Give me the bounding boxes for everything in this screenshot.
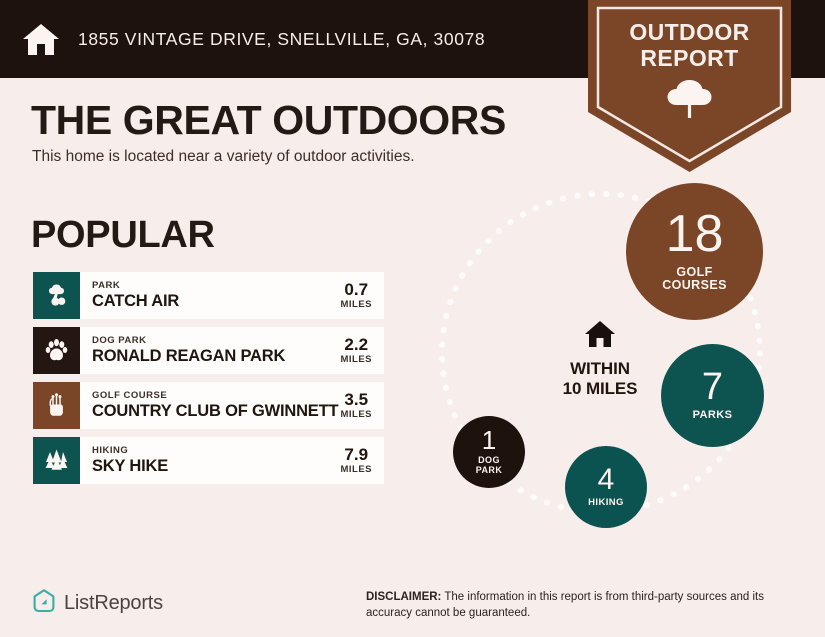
- diagram-center-note: WITHIN 10 MILES: [535, 320, 665, 398]
- stat-count: 1: [482, 428, 496, 453]
- list-item-category: HIKING: [92, 445, 334, 457]
- list-item-distance: 0.7: [344, 281, 368, 299]
- stat-count: 4: [598, 466, 615, 495]
- stat-label-line1: GOLF: [676, 265, 712, 279]
- home-icon: [22, 22, 60, 56]
- list-item-unit: MILES: [340, 354, 372, 365]
- list-item-distance: 2.2: [344, 336, 368, 354]
- list-item-name: CATCH AIR: [92, 292, 334, 311]
- within-10-miles-diagram: 18 GOLF COURSES 7 PARKS 4 HIKING 1 DOG P…: [398, 180, 808, 555]
- golf-bag-icon: [33, 382, 80, 429]
- within-line2: 10 MILES: [535, 379, 665, 399]
- list-item-distance: 7.9: [344, 446, 368, 464]
- stat-label: DOG PARK: [476, 456, 502, 475]
- stat-label: PARKS: [693, 410, 733, 422]
- property-address: 1855 VINTAGE DRIVE, SNELLVILLE, GA, 3007…: [78, 29, 485, 50]
- popular-heading: POPULAR: [31, 214, 215, 257]
- list-item-category: GOLF COURSE: [92, 390, 334, 402]
- listreports-logo[interactable]: ListReports: [32, 588, 163, 619]
- stat-bubble-dog-park[interactable]: 1 DOG PARK: [453, 416, 525, 488]
- stat-label-line1: DOG: [478, 455, 500, 465]
- listreports-house-icon: [32, 588, 56, 619]
- outdoor-report-badge: OUTDOOR REPORT: [588, 0, 791, 172]
- stat-bubble-golf-courses[interactable]: 18 GOLF COURSES: [626, 183, 763, 320]
- stat-count: 18: [666, 210, 724, 259]
- within-line1: WITHIN: [570, 359, 630, 378]
- disclaimer: DISCLAIMER: The information in this repo…: [366, 590, 806, 621]
- list-item-name: SKY HIKE: [92, 457, 334, 476]
- stat-label-line2: COURSES: [662, 278, 727, 292]
- list-item-category: PARK: [92, 280, 334, 292]
- list-item-distance: 3.5: [344, 391, 368, 409]
- stat-count: 7: [702, 369, 723, 405]
- page-subtitle: This home is located near a variety of o…: [32, 148, 415, 166]
- list-item[interactable]: PARK CATCH AIR 0.7 MILES: [33, 272, 384, 319]
- list-item-name: COUNTRY CLUB OF GWINNETT: [92, 402, 334, 421]
- list-item[interactable]: GOLF COURSE COUNTRY CLUB OF GWINNETT 3.5…: [33, 382, 384, 429]
- badge-line1: OUTDOOR: [629, 19, 749, 45]
- stat-bubble-parks[interactable]: 7 PARKS: [661, 344, 764, 447]
- list-item-unit: MILES: [340, 299, 372, 310]
- list-item[interactable]: HIKING SKY HIKE 7.9 MILES: [33, 437, 384, 484]
- within-label: WITHIN 10 MILES: [535, 359, 665, 398]
- disclaimer-label: DISCLAIMER:: [366, 591, 441, 603]
- popular-list: PARK CATCH AIR 0.7 MILES DOG PARK RONALD…: [33, 272, 384, 492]
- list-item[interactable]: DOG PARK RONALD REAGAN PARK 2.2 MILES: [33, 327, 384, 374]
- badge-line2: REPORT: [588, 46, 791, 72]
- pine-trees-icon: [33, 437, 80, 484]
- badge-text: OUTDOOR REPORT: [588, 20, 791, 72]
- page-title: THE GREAT OUTDOORS: [31, 97, 506, 144]
- list-item-unit: MILES: [340, 409, 372, 420]
- brand-name: ListReports: [64, 592, 163, 615]
- stat-label: GOLF COURSES: [662, 266, 727, 293]
- stat-bubble-hiking[interactable]: 4 HIKING: [565, 446, 647, 528]
- list-item-category: DOG PARK: [92, 335, 334, 347]
- stat-label: HIKING: [588, 498, 624, 508]
- paw-print-icon: [33, 327, 80, 374]
- park-tree-icon: [33, 272, 80, 319]
- home-icon: [584, 335, 616, 352]
- stat-label-line2: PARK: [476, 465, 502, 475]
- list-item-name: RONALD REAGAN PARK: [92, 347, 334, 366]
- list-item-unit: MILES: [340, 464, 372, 475]
